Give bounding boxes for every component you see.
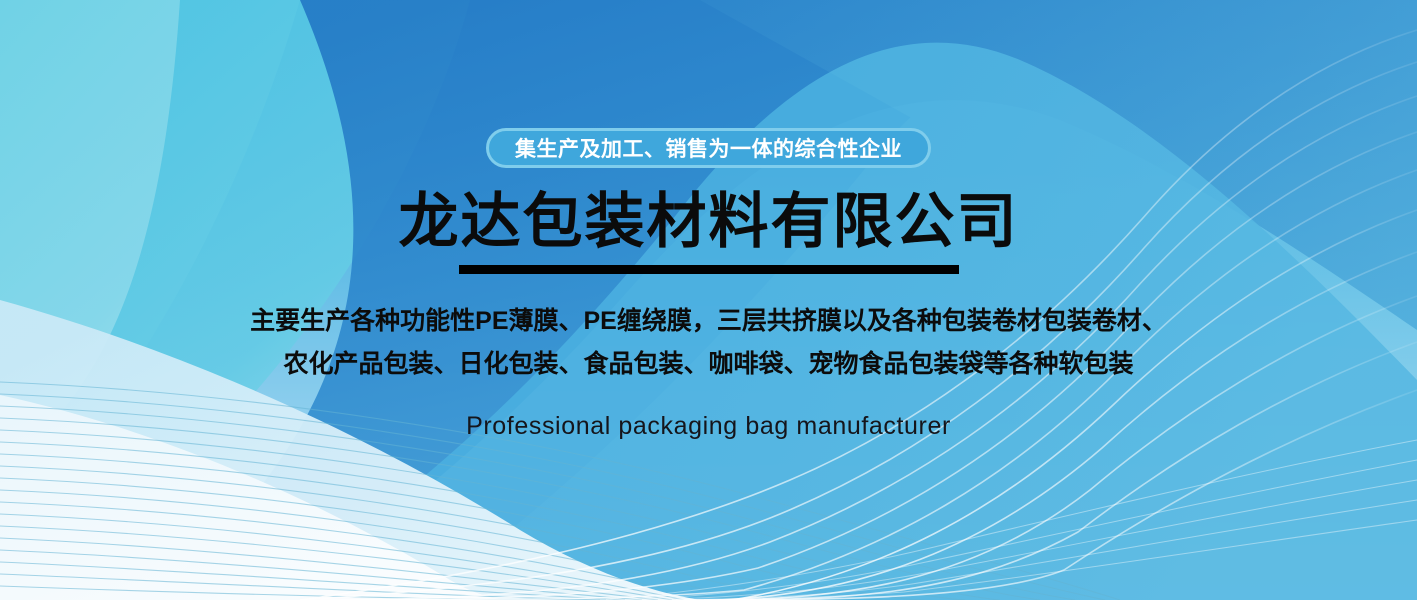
company-name-title: 龙达包装材料有限公司 <box>399 190 1019 253</box>
english-subtitle: Professional packaging bag manufacturer <box>466 412 951 441</box>
title-underline-rule <box>459 265 959 274</box>
hero-banner: 集生产及加工、销售为一体的综合性企业 龙达包装材料有限公司 主要生产各种功能性P… <box>0 0 1417 600</box>
tagline-badge: 集生产及加工、销售为一体的综合性企业 <box>486 128 931 168</box>
banner-content: 集生产及加工、销售为一体的综合性企业 龙达包装材料有限公司 主要生产各种功能性P… <box>0 0 1417 600</box>
description-line-1: 主要生产各种功能性PE薄膜、PE缠绕膜，三层共挤膜以及各种包装卷材包装卷材、 <box>250 300 1167 343</box>
description-line-2: 农化产品包装、日化包装、食品包装、咖啡袋、宠物食品包装袋等各种软包装 <box>250 343 1167 386</box>
description-block: 主要生产各种功能性PE薄膜、PE缠绕膜，三层共挤膜以及各种包装卷材包装卷材、 农… <box>250 300 1167 386</box>
